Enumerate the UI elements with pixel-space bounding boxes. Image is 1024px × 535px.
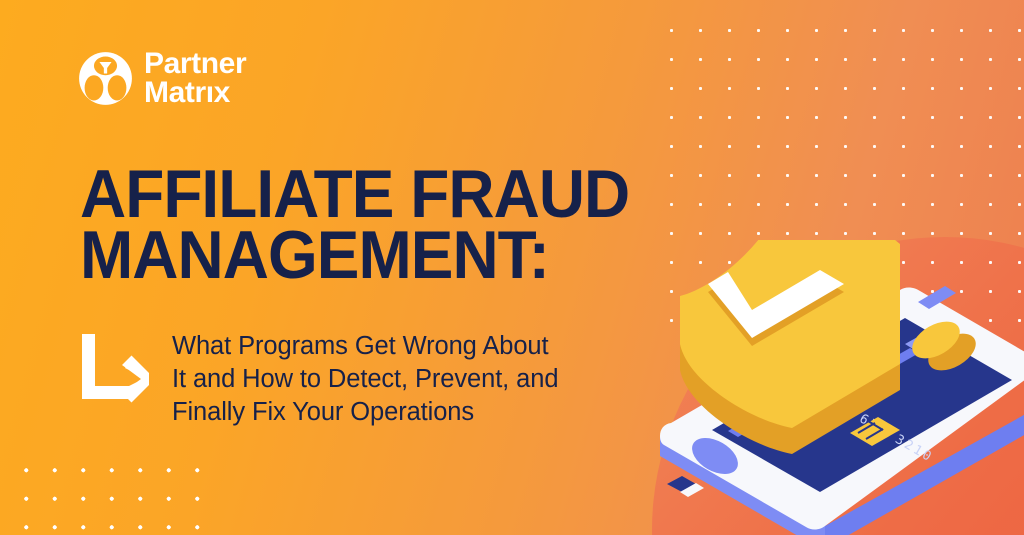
- brand-logo[interactable]: Partner Matrıx: [78, 50, 246, 107]
- partnermatrix-sphere-icon: [78, 51, 133, 106]
- brand-name-line2: Matrıx: [144, 79, 246, 108]
- subtitle-text: What Programs Get Wrong About It and How…: [172, 330, 558, 429]
- brand-name: Partner Matrıx: [144, 50, 246, 107]
- isometric-phone-card-shield: 1098 7654 3210: [600, 240, 1024, 535]
- dot-grid-bottom-left: [8, 452, 223, 535]
- corner-down-right-arrow-icon: [78, 332, 150, 424]
- subtitle-line3: Finally Fix Your Operations: [172, 396, 558, 429]
- subtitle-line2: It and How to Detect, Prevent, and: [172, 363, 558, 396]
- brand-name-line1: Partner: [144, 50, 246, 79]
- banner-hero: Partner Matrıx AFFILIATE FRAUD MANAGEMEN…: [0, 0, 1024, 535]
- subtitle-block: What Programs Get Wrong About It and How…: [78, 330, 558, 429]
- page-title-line1: AFFILIATE FRAUD: [80, 164, 700, 225]
- subtitle-line1: What Programs Get Wrong About: [172, 330, 558, 363]
